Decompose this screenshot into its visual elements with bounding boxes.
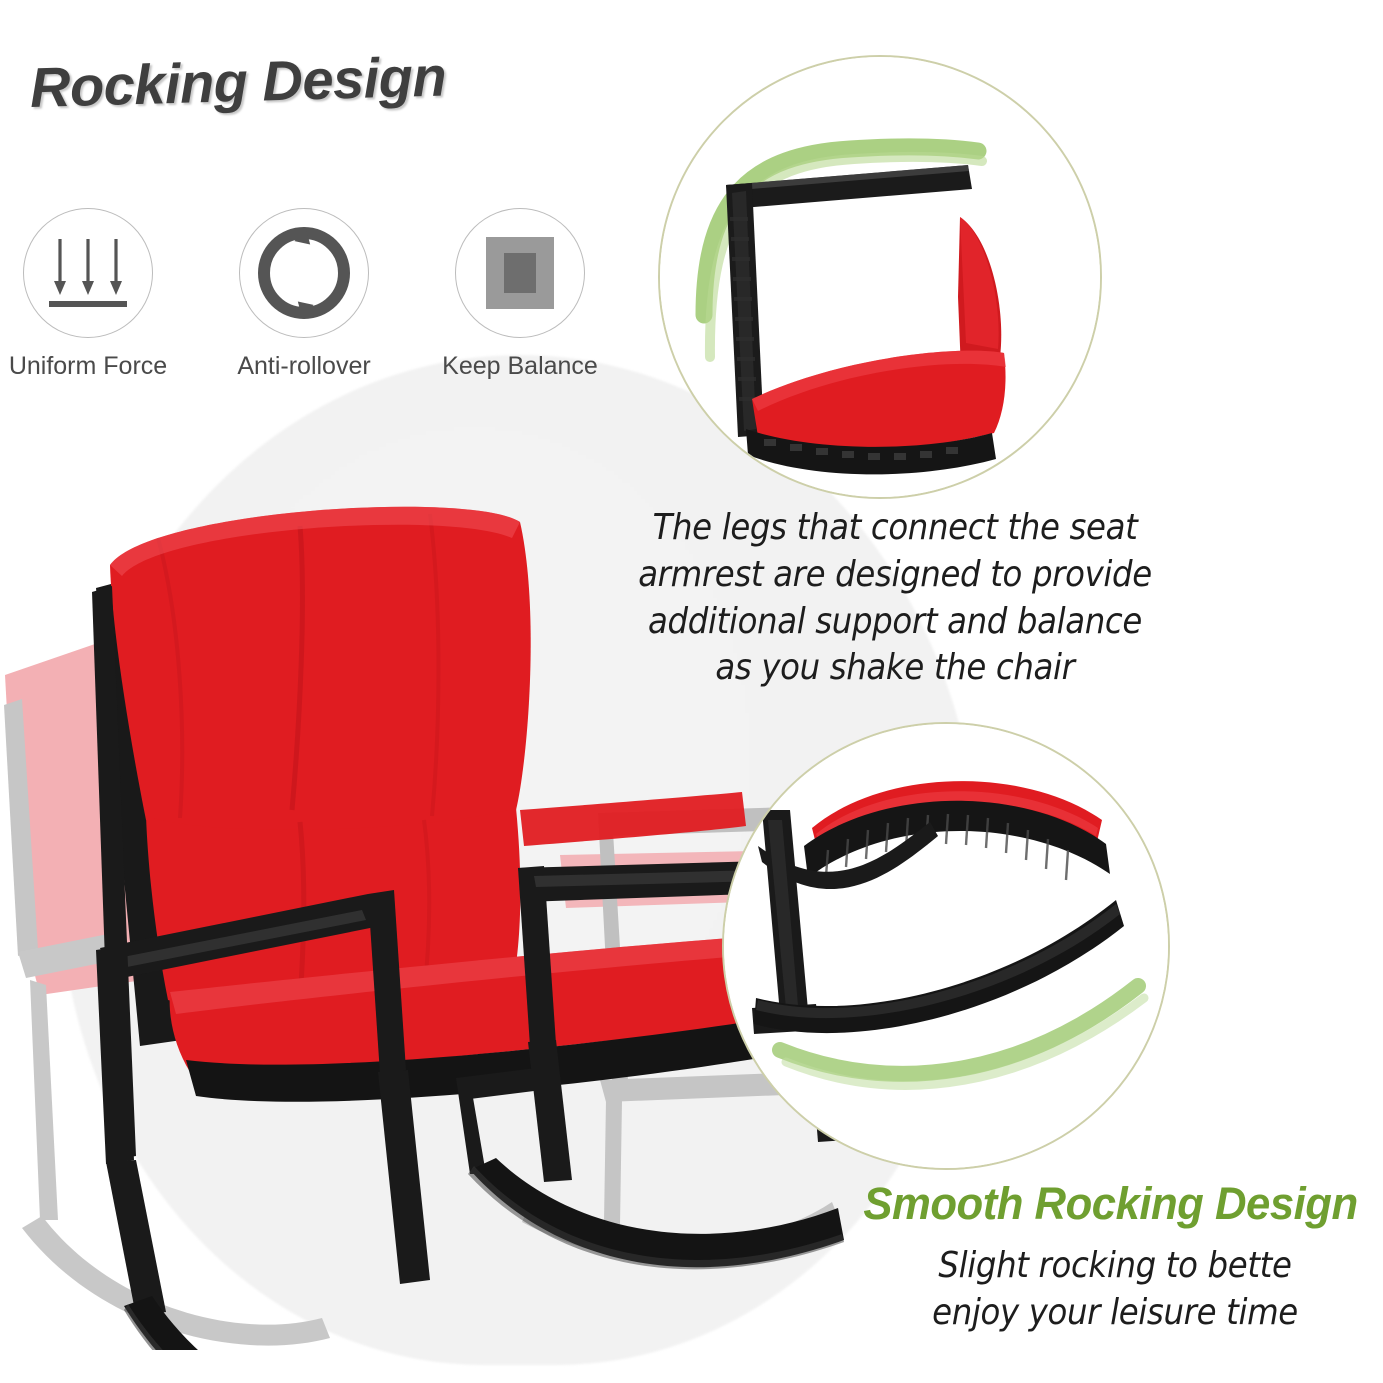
caption-line: The legs that connect the seat [634,505,1156,552]
caption-line: as you shake the chair [634,645,1156,692]
caption-line: armrest are designed to provide [634,552,1156,599]
inset-rocker-closeup [722,722,1170,1170]
feature-icon-row: Uniform Force Anti-rollover [18,208,590,381]
smooth-rocking-caption: Slight rocking to bette enjoy your leisu… [881,1243,1349,1337]
page-title: Rocking Design [29,43,447,120]
feature-label: Anti-rollover [237,352,370,381]
feature-label: Uniform Force [9,352,167,381]
feature-keep-balance: Keep Balance [450,208,590,381]
nested-squares-icon [470,223,570,323]
inset-top-caption: The legs that connect the seat armrest a… [634,505,1156,692]
rotation-cycle-icon [254,223,354,323]
caption-line: Slight rocking to bette [881,1243,1349,1290]
caption-line: additional support and balance [634,599,1156,646]
feature-anti-rollover: Anti-rollover [234,208,374,381]
downward-arrows-on-bar-icon [38,223,138,323]
feature-circle [239,208,369,338]
rocker-runner-closeup-art [724,724,1168,1168]
armrest-leg-closeup-art [660,57,1100,497]
inset-armrest-closeup [658,55,1102,499]
caption-line: enjoy your leisure time [881,1290,1349,1337]
infographic-canvas: Rocking Design U [0,0,1383,1383]
feature-circle [455,208,585,338]
feature-label: Keep Balance [442,352,598,381]
feature-uniform-force: Uniform Force [18,208,158,381]
feature-circle [23,208,153,338]
smooth-rocking-heading: Smooth Rocking Design [841,1178,1379,1230]
